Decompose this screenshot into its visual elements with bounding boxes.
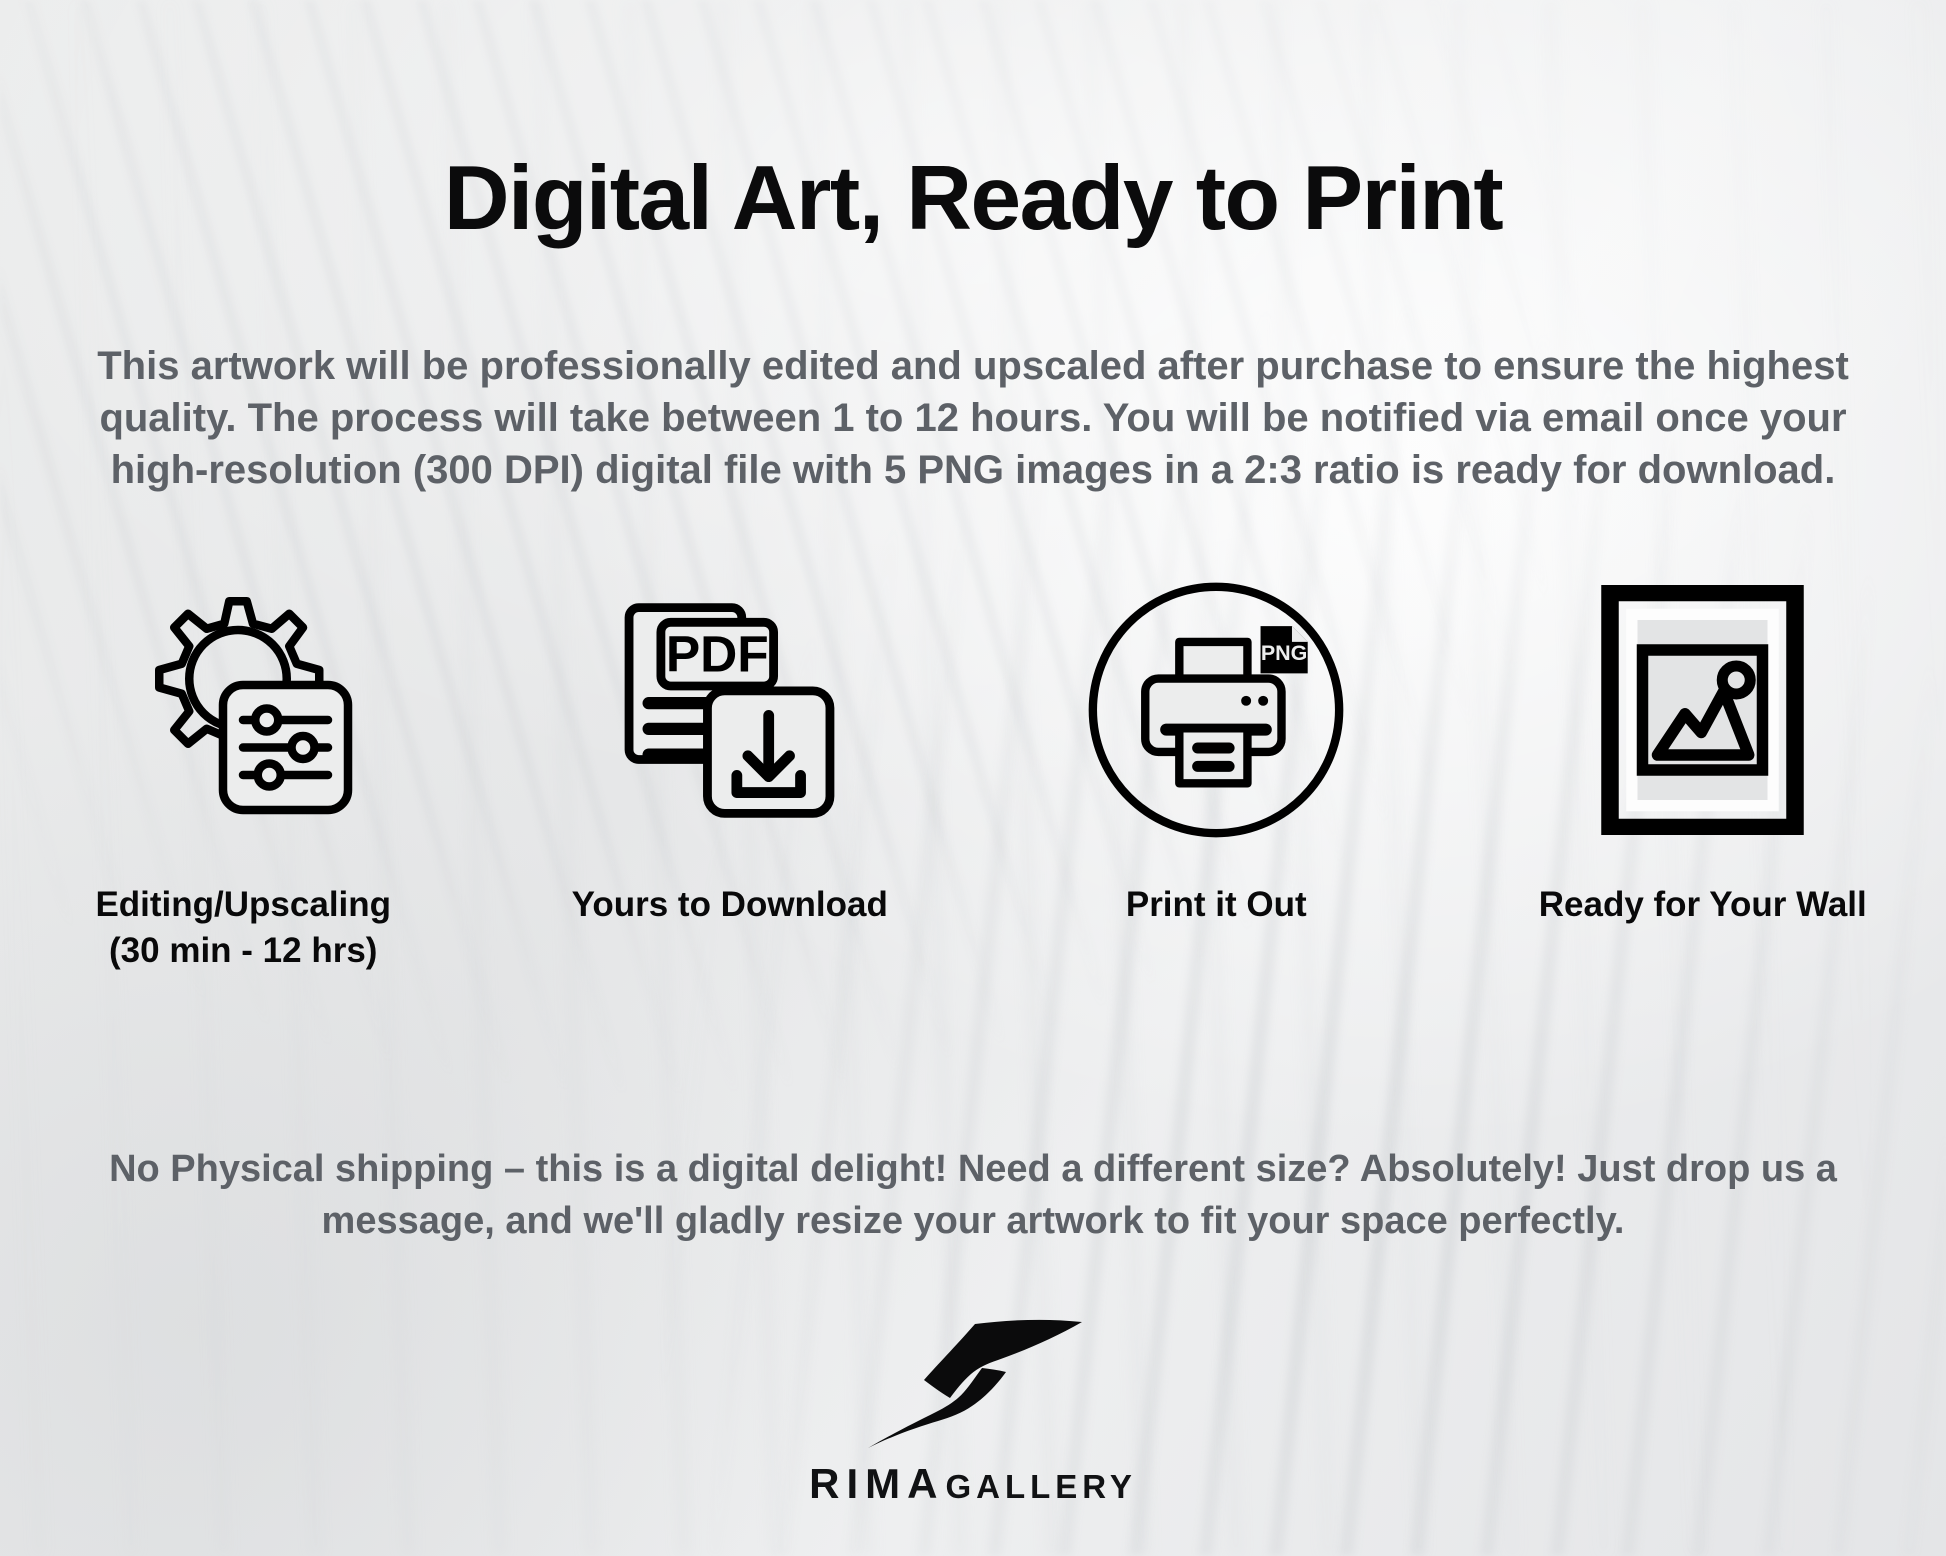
png-badge-text: PNG — [1261, 641, 1308, 665]
feature-label: Editing/Upscaling (30 min - 12 hrs) — [95, 882, 391, 973]
feature-item-editing-upscaling: Editing/Upscaling (30 min - 12 hrs) — [0, 560, 487, 973]
brand-name-primary: RIMA — [809, 1460, 944, 1508]
feature-item-ready-for-your-wall: Ready for Your Wall — [1460, 560, 1946, 928]
gear-sliders-icon — [118, 560, 368, 860]
feature-label: Yours to Download — [572, 882, 888, 928]
pdf-download-icon: PDF — [607, 560, 852, 860]
poster-content: Digital Art, Ready to Print This artwork… — [0, 0, 1946, 1556]
feature-row: Editing/Upscaling (30 min - 12 hrs) PDF — [0, 560, 1946, 973]
framed-picture-icon — [1600, 560, 1805, 860]
pdf-badge-text: PDF — [666, 624, 769, 682]
brand-name-secondary: GALLERY — [945, 1468, 1136, 1506]
intro-paragraph: This artwork will be professionally edit… — [68, 340, 1878, 496]
printer-circle-icon: PNG — [1085, 560, 1347, 860]
feature-item-yours-to-download: PDF Yours to Download — [487, 560, 974, 928]
poster-canvas: Digital Art, Ready to Print This artwork… — [0, 0, 1946, 1556]
page-title: Digital Art, Ready to Print — [0, 153, 1946, 244]
feature-label: Print it Out — [1126, 882, 1307, 928]
brand-wordmark: RIMA GALLERY — [809, 1460, 1137, 1508]
brand-logo: RIMA GALLERY — [0, 1318, 1946, 1508]
rima-swoosh-logomark — [858, 1318, 1088, 1454]
outro-paragraph: No Physical shipping – this is a digital… — [58, 1143, 1888, 1248]
feature-item-print-it-out: PNG Print it Out — [973, 560, 1460, 928]
feature-label: Ready for Your Wall — [1539, 882, 1867, 928]
